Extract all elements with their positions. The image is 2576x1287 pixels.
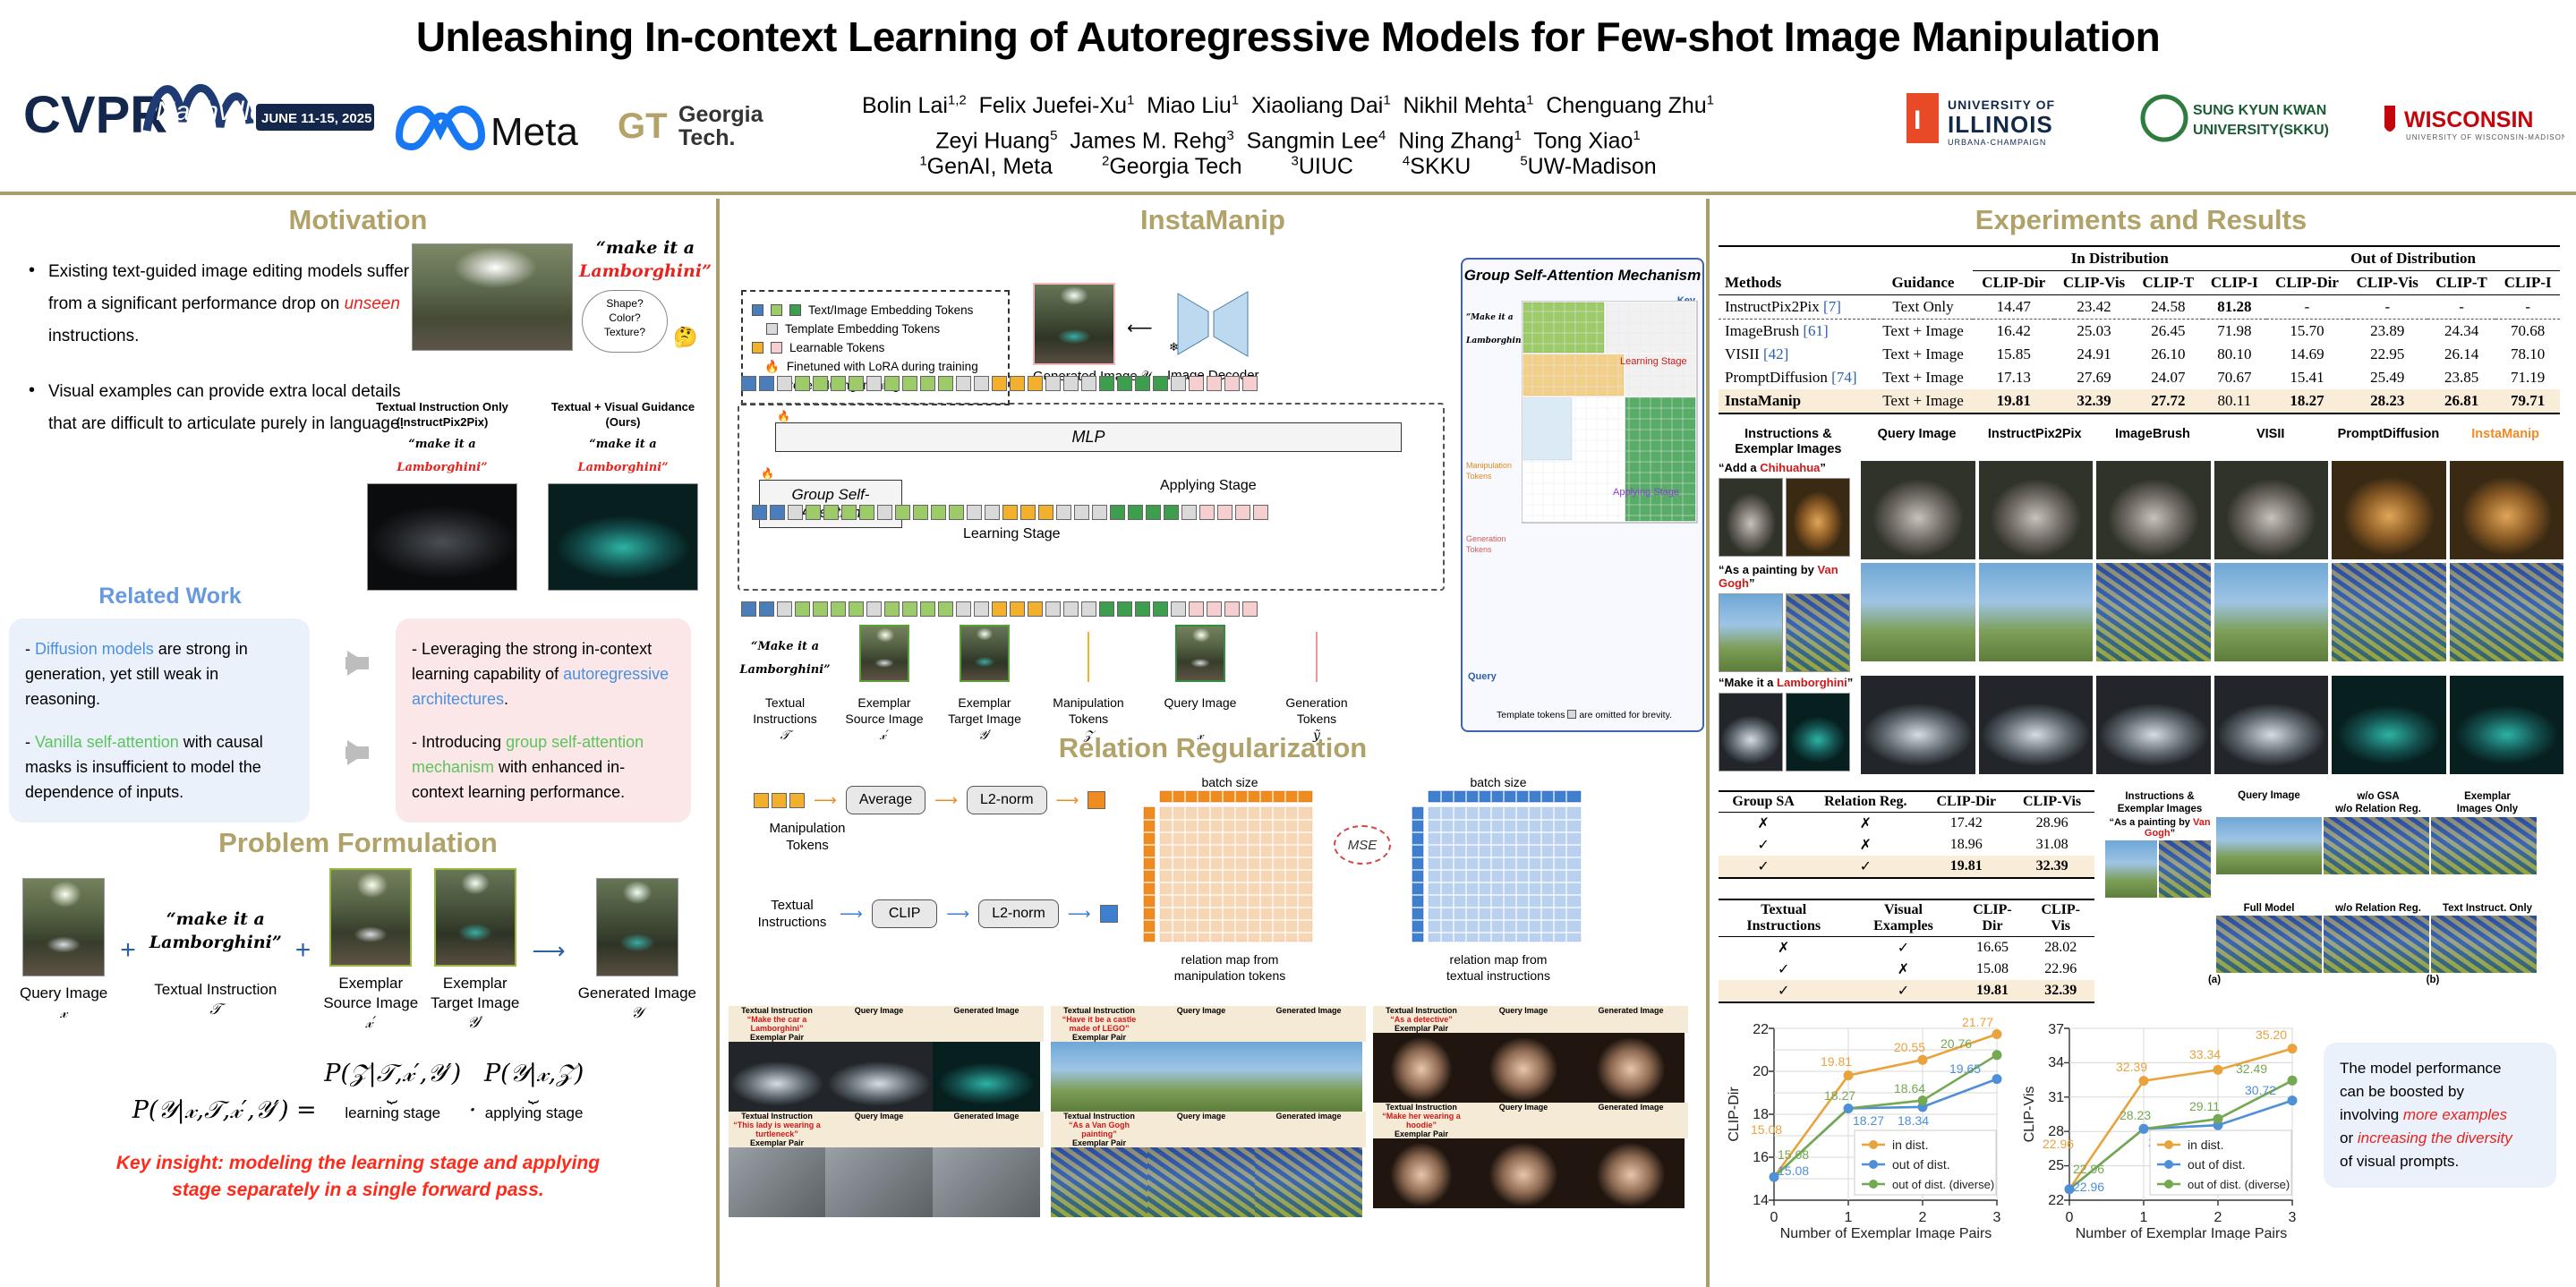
legend-row-2: Learnable Tokens	[752, 338, 999, 357]
svg-text:18.27: 18.27	[1824, 1088, 1855, 1103]
svg-text:JUNE 11-15, 2025: JUNE 11-15, 2025	[261, 111, 371, 126]
qual-row2-visii	[2214, 563, 2328, 661]
svg-text:18: 18	[1753, 1107, 1769, 1122]
legend-row-1: Template Embedding Tokens	[752, 320, 999, 338]
problem-formula: P(𝒴|𝓍,𝒯,𝓍′,𝒴′) = P(𝒵|𝒯,𝓍′,𝒴′) ⏟ learning…	[9, 1060, 707, 1125]
section-title-experiments: Experiments and Results	[1719, 204, 2563, 236]
example-strip-1: Textual Instruction “Make the car a Lamb…	[729, 1006, 1044, 1217]
token-lightgreen-icon	[771, 304, 782, 316]
abl2-col-1: Visual Examples	[1848, 899, 1958, 937]
qual2-header-1: Query Image	[2214, 790, 2324, 815]
token-blue-icon	[752, 304, 763, 316]
strip6-query-head: Query Image	[1470, 1103, 1577, 1138]
clip-block: CLIP	[872, 899, 938, 928]
strip3-gen-1	[1577, 1033, 1685, 1103]
input-exemplar-source: ExemplarSource Image 𝓍′	[834, 625, 934, 744]
col-header-ood-clipi: CLIP-I	[2495, 271, 2560, 295]
strip3-exemplar-1	[1373, 1033, 1470, 1103]
wisconsin-logo: WISCONSIN UNIVERSITY OF WISCONSIN-MADISO…	[2372, 97, 2564, 153]
svg-text:Tech.: Tech.	[678, 125, 735, 150]
strip5-exemplar-1	[1051, 1147, 1147, 1217]
strip4-query-1	[825, 1147, 933, 1217]
main-results-table: Methods Guidance In Distribution Out of …	[1719, 245, 2560, 414]
strip1-gen-1	[933, 1042, 1040, 1112]
strip3-query-head: Query Image	[1470, 1006, 1577, 1033]
qual-row-1: “Add a Chihuahua”	[1719, 461, 2563, 559]
qualitative-comparison: Instructions &Exemplar Images Query Imag…	[1719, 427, 2563, 774]
arrow-right-icon-clip: ⟶	[840, 905, 863, 924]
gsa-panel: Group Self-Attention Mechanism Key Query…	[1461, 258, 1704, 732]
georgia-tech-logo: GT Georgia Tech.	[618, 97, 828, 155]
table-row: ✗✗ 17.4228.96	[1719, 813, 2094, 835]
qual-row1-instruction: “Add a Chihuahua”	[1719, 461, 1857, 559]
strip2-instr-head: Textual Instruction “Have it be a castle…	[1051, 1006, 1147, 1042]
gsa-panel-title: Group Self-Attention Mechanism	[1463, 267, 1702, 285]
image-decoder-block: Image Decoder ❄	[1167, 281, 1259, 383]
group-self-attention-block: Group Self-Attention	[759, 480, 902, 528]
l2norm-block-2: L2-norm	[978, 899, 1059, 928]
pf-generated-image: Generated Image 𝒴	[578, 878, 696, 1023]
teaser-left-example: Textual Instruction Only (InstructPix2Pi…	[362, 399, 523, 591]
fire-icon-mlp: 🔥	[777, 410, 790, 422]
strip5-instr-head: Textual Instruction “As a Van Gogh paint…	[1051, 1112, 1147, 1147]
arrow-right-icon-l2a: ⟶	[934, 791, 958, 810]
qual-row2-exemplar-src	[1719, 593, 1783, 672]
mse-node: MSE	[1334, 825, 1391, 865]
svg-text:37: 37	[2048, 1022, 2064, 1037]
relation-map-textual: batch size	[1409, 775, 1588, 984]
arrow-right-icon-l2b: ⟶	[946, 905, 969, 924]
abl2-col-3: CLIP-Vis	[2026, 899, 2094, 937]
strip5-query-1	[1147, 1147, 1255, 1217]
abl1-col-3: CLIP-Vis	[2009, 791, 2094, 813]
relation-map-blue-icon	[1409, 789, 1588, 947]
svg-text:22.96: 22.96	[2043, 1137, 2074, 1151]
qual-row2-instamanip	[2450, 563, 2563, 661]
group-header-in-distribution: In Distribution	[1973, 246, 2266, 271]
qual2b-header-2: Text Instruct. Only	[2433, 903, 2542, 914]
svg-text:14: 14	[1753, 1193, 1769, 1208]
svg-text:UNIVERSITY(SKKU): UNIVERSITY(SKKU)	[2193, 123, 2329, 138]
strip2-exemplar-1	[1051, 1042, 1147, 1112]
conclusion-note: The model performance can be boosted by …	[2324, 1043, 2556, 1188]
arrow-left-icon-decoder: ⟵	[1127, 317, 1153, 339]
strip1-gen-head: Generated Image	[933, 1006, 1040, 1042]
relation-map-orange-icon	[1140, 789, 1319, 947]
related-work-right-box: - Leveraging the strong in-context learn…	[396, 618, 691, 822]
poster-columns: Motivation Existing text-guided image ed…	[0, 199, 2576, 1287]
qual-header-4: VISII	[2212, 427, 2330, 457]
svg-text:UNIVERSITY OF: UNIVERSITY OF	[1948, 98, 2055, 112]
strip1-instr-head: Textual Instruction “Make the car a Lamb…	[729, 1006, 825, 1042]
qual2b-header-0: Full Model	[2214, 903, 2324, 914]
svg-text:2: 2	[1919, 1210, 1927, 1225]
qual-row3-instamanip	[2450, 676, 2563, 774]
strip6-instr-head: Textual Instruction “Make her wearing a …	[1373, 1103, 1470, 1138]
strip2-gen-head: Generated Image	[1255, 1006, 1362, 1042]
section-title-related-work: Related Work	[9, 584, 331, 609]
svg-text:0: 0	[1770, 1210, 1778, 1225]
svg-text:out of dist. (diverse): out of dist. (diverse)	[1892, 1178, 1994, 1191]
subfigure-label-a: (a)	[2105, 975, 2324, 985]
col-header-id-clipvis: CLIP-Vis	[2054, 271, 2134, 295]
qual-row3-exemplar-src	[1719, 693, 1783, 771]
subfigure-label-b: (b)	[2324, 975, 2542, 985]
svg-text:35.20: 35.20	[2256, 1027, 2287, 1042]
token-pink-icon	[771, 342, 782, 354]
teaser-source-image	[412, 243, 573, 351]
strip5-gen-head: Generated image	[1255, 1112, 1362, 1147]
table-row-highlighted: InstaManip Text + Image 19.81 32.39 27.7…	[1719, 389, 2560, 413]
svg-text:ILLINOIS: ILLINOIS	[1948, 111, 2053, 138]
gsa-left-labels: “Make it aLamborghini” ManipulationToken…	[1466, 306, 1520, 555]
strip2-query-1	[1147, 1042, 1255, 1112]
strip4-gen-head: Generated Image	[933, 1112, 1040, 1147]
learning-stage-label: Learning Stage	[963, 526, 1061, 542]
qual-header-0: Instructions &Exemplar Images	[1719, 427, 1858, 457]
chart-clip-dir: 14 16 18 20 22 01 23	[1719, 1016, 2014, 1244]
problem-formulation-row: Query Image 𝓍 + “make it a Lamborghini” …	[9, 868, 707, 1033]
relation-reg-pipeline: ⟶ Average ⟶ L2-norm ⟶ ManipulationTokens	[754, 786, 1118, 931]
svg-text:Number of Exemplar Image Pairs: Number of Exemplar Image Pairs	[2076, 1226, 2288, 1240]
affiliation-list: 1GenAI, Meta 2Georgia Tech 3UIUC 4SKKU 5…	[0, 154, 2576, 180]
strip4-exemplar-1	[729, 1147, 825, 1217]
strip2-query-head: Query Image	[1147, 1006, 1255, 1042]
motivation-bullet-1: Existing text-guided image editing model…	[25, 256, 410, 353]
table-row: ✓✗ 15.0822.96	[1719, 959, 2094, 980]
table-row: VISII [42] Text + Image 15.85 24.91 26.1…	[1719, 343, 2560, 366]
svg-text:1: 1	[2140, 1210, 2148, 1225]
input-manipulation-tokens: ManipulationTokens 𝒵	[1035, 625, 1142, 744]
l2norm-block-1: L2-norm	[967, 786, 1047, 814]
unseen-emphasis: unseen	[345, 294, 400, 313]
legend-row-0: Text/Image Embedding Tokens	[752, 301, 999, 320]
abl2-col-2: CLIP-Dir	[1958, 899, 2027, 937]
strip5-gen-1	[1255, 1147, 1362, 1217]
svg-text:in dist.: in dist.	[2188, 1138, 2223, 1152]
teaser-instruction: “make it a Lamborghini”	[578, 236, 712, 283]
qualitative-example-strips: Textual Instruction “Make the car a Lamb…	[729, 1006, 1697, 1217]
abl1-col-0: Group SA	[1719, 791, 1808, 813]
section-title-motivation: Motivation	[9, 204, 707, 236]
svg-text:20.76: 20.76	[1941, 1036, 1972, 1051]
related-work-right-item-0: - Leveraging the strong in-context learn…	[412, 636, 675, 712]
applying-stage-label: Applying Stage	[1160, 478, 1257, 494]
qual2-instruction: “As a painting by Van Gogh”	[2105, 817, 2214, 898]
qual-row2-promptdiffusion	[2332, 563, 2445, 661]
qual-row1-ip2p	[1979, 461, 2093, 559]
qual-row2-exemplar-tgt	[1786, 593, 1850, 672]
example-strip-3: Textual Instruction “As a detective” Exe…	[1373, 1006, 1688, 1217]
svg-text:UNIVERSITY OF WISCONSIN-MADISO: UNIVERSITY OF WISCONSIN-MADISON	[2406, 133, 2564, 141]
svg-text:out of dist. (diverse): out of dist. (diverse)	[2188, 1178, 2290, 1191]
qual-row2-ip2p	[1979, 563, 2093, 661]
qual-row1-exemplar-tgt	[1786, 478, 1850, 557]
strip4-gen-1	[933, 1147, 1040, 1217]
qual-header-1: Query Image	[1858, 427, 1976, 457]
svg-text:0: 0	[2066, 1210, 2074, 1225]
svg-text:25: 25	[2048, 1158, 2064, 1173]
abl2-col-0: Textual Instructions	[1719, 899, 1848, 937]
svg-text:21.77: 21.77	[1962, 1016, 1993, 1029]
arrow-right-icon-out2: ⟶	[1068, 905, 1091, 924]
qual-header-6: InstaManip	[2447, 427, 2563, 457]
gsa-query-label: Query	[1468, 671, 1497, 682]
gsa-applying-stage-label: Applying Stage	[1613, 487, 1679, 498]
qual2-exemplar-only	[2431, 817, 2537, 874]
qual2-text-only	[2431, 916, 2537, 973]
qualitative-headers: Instructions &Exemplar Images Query Imag…	[1719, 427, 2563, 457]
svg-text:CVPR: CVPR	[23, 86, 167, 144]
affiliation-4: 4SKKU	[1403, 154, 1471, 179]
related-work-left-item-0: - Diffusion models are strong in generat…	[25, 636, 294, 712]
textual-instructions-label: TextualInstructions	[754, 897, 831, 931]
svg-text:15.08: 15.08	[1778, 1163, 1809, 1178]
generated-image-thumb	[1033, 283, 1115, 365]
batch-size-label-1: batch size	[1140, 775, 1319, 789]
legend-row-3: 🔥 Finetuned with LoRA during training	[752, 357, 999, 376]
svg-text:SUNG KYUN KWAN: SUNG KYUN KWAN	[2193, 103, 2326, 118]
poster-root: Unleashing In-context Learning of Autore…	[0, 0, 2576, 1287]
manipulation-tokens-label: ManipulationTokens	[754, 820, 861, 854]
poster-header: Unleashing In-context Learning of Autore…	[0, 0, 2576, 195]
pf-exemplar-target: Exemplar Target Image 𝒴′	[431, 868, 519, 1033]
relation-map-caption-left: relation map frommanipulation tokens	[1140, 951, 1319, 984]
strip6-exemplar-1	[1373, 1138, 1470, 1208]
batch-size-label-2: batch size	[1409, 775, 1588, 789]
svg-text:15.08: 15.08	[1778, 1147, 1809, 1162]
table-row-highlighted: ✓ ✓ 19.8132.39	[1719, 980, 2094, 1002]
plus-icon-2: +	[295, 935, 311, 966]
affiliation-1: 1GenAI, Meta	[919, 154, 1053, 179]
pf-textual-instruction: “make it a Lamborghini” Textual Instruct…	[149, 882, 283, 1019]
table-row: PromptDiffusion [74] Text + Image 17.13 …	[1719, 366, 2560, 389]
svg-text:1: 1	[1845, 1210, 1853, 1225]
average-block: Average	[846, 786, 925, 814]
svg-text:29.11: 29.11	[2189, 1099, 2220, 1113]
col-header-ood-clipvis: CLIP-Vis	[2348, 271, 2427, 295]
related-work-left-box: - Diffusion models are strong in generat…	[9, 618, 310, 822]
col-header-id-clipt: CLIP-T	[2134, 271, 2203, 295]
pf-query-image: Query Image 𝓍	[20, 878, 107, 1023]
qual2-full-model	[2216, 916, 2322, 973]
strip1-query-head: Query Image	[825, 1006, 933, 1042]
pf-exemplar-source: Exemplar Source Image 𝓍′	[323, 868, 418, 1033]
template-token-icon	[1567, 710, 1576, 719]
qual-row-3: “Make it a Lamborghini”	[1719, 676, 2563, 774]
qual-row3-visii	[2214, 676, 2328, 774]
table-row: InstructPix2Pix [7] Text Only 14.47 23.4…	[1719, 295, 2560, 320]
meta-logo: Meta	[394, 98, 600, 158]
qual-header-5: PromptDiffusion	[2330, 427, 2448, 457]
svg-text:32.39: 32.39	[2116, 1060, 2147, 1074]
affiliation-3: 3UIUC	[1292, 154, 1353, 179]
qual2-query	[2216, 817, 2322, 874]
qual2-header-2: w/o GSAw/o Relation Reg.	[2324, 790, 2433, 815]
teaser-right-result	[548, 483, 698, 591]
group-header-out-distribution: Out of Distribution	[2266, 246, 2560, 271]
strip3-instr-head: Textual Instruction “As a detective” Exe…	[1373, 1006, 1470, 1033]
svg-text:3: 3	[1993, 1210, 2001, 1225]
svg-text:Nashville: Nashville	[156, 97, 265, 126]
column-left: Motivation Existing text-guided image ed…	[0, 199, 716, 1287]
qual-header-2: InstructPix2Pix	[1975, 427, 2094, 457]
thinking-face-icon: 🤔	[673, 326, 697, 349]
strip1-query-1	[825, 1042, 933, 1112]
affiliation-2: 2Georgia Tech	[1102, 154, 1242, 179]
arrow-right-icon-3: ⟶	[532, 937, 565, 965]
qual-row1-instamanip	[2450, 461, 2563, 559]
svg-text:18.27: 18.27	[1853, 1113, 1884, 1128]
relation-map-manipulation: batch size	[1140, 775, 1319, 984]
textual-embedding-token	[1100, 905, 1118, 923]
illinois-logo: I UNIVERSITY OF ILLINOIS URBANA-CHAMPAIG…	[1906, 89, 2112, 153]
related-work-right-item-1: - Introducing group self-attention mecha…	[412, 729, 675, 805]
strip2-gen-1	[1255, 1042, 1362, 1112]
svg-text:20: 20	[1753, 1064, 1769, 1079]
strip6-query-1	[1470, 1138, 1577, 1208]
svg-text:19.65: 19.65	[1949, 1061, 1981, 1076]
fire-icon: 🔥	[764, 357, 780, 376]
relation-map-caption-right: relation map fromtextual instructions	[1409, 951, 1588, 984]
qual-row1-exemplar-src	[1719, 478, 1783, 557]
gsa-learning-stage-label: Learning Stage	[1620, 356, 1687, 367]
col-header-id-clipi: CLIP-I	[2203, 271, 2267, 295]
charts-row: 14 16 18 20 22 01 23	[1719, 1016, 2563, 1244]
qual-row1-imagebrush	[2096, 461, 2210, 559]
arrow-right-icon-out1: ⟶	[1056, 791, 1079, 810]
svg-text:18.64: 18.64	[1894, 1081, 1925, 1095]
input-token-row	[741, 601, 1258, 617]
related-work-left-item-1: - Vanilla self-attention with causal mas…	[25, 729, 294, 805]
svg-text:33.34: 33.34	[2189, 1047, 2221, 1061]
qual-header-3: ImageBrush	[2094, 427, 2212, 457]
qual-row-2: “As a painting by Van Gogh”	[1719, 563, 2563, 672]
qual-row3-query	[1861, 676, 1975, 774]
qualitative-ablation: Instructions &Exemplar Images Query Imag…	[2105, 790, 2553, 1003]
image-decoder-icon	[1173, 281, 1253, 363]
fire-icon-gsa: 🔥	[761, 467, 774, 480]
svg-text:3: 3	[2289, 1210, 2297, 1225]
strip1-exemplar-1	[729, 1042, 825, 1112]
col-header-methods: Methods	[1719, 246, 1873, 295]
svg-text:Georgia: Georgia	[678, 102, 764, 127]
transformer-block-panel: ×N MLP 🔥 Group Self-Attention 🔥 Applying…	[738, 403, 1445, 591]
qual-row3-exemplar-tgt	[1786, 693, 1850, 771]
token-gray-icon	[766, 323, 778, 335]
svg-text:I: I	[1914, 106, 1921, 135]
cvpr-logo: CVPR Nashville JUNE 11-15, 2025	[21, 68, 380, 147]
svg-text:34: 34	[2048, 1055, 2064, 1070]
svg-text:GT: GT	[618, 107, 668, 146]
qual-row1-visii	[2214, 461, 2328, 559]
strip4-instr-head: Textual Instruction “This lady is wearin…	[729, 1112, 825, 1147]
svg-text:Number of Exemplar Image Pairs: Number of Exemplar Image Pairs	[1780, 1226, 1992, 1240]
qual-row3-instruction: “Make it a Lamborghini”	[1719, 676, 1857, 774]
manipulation-token-group	[754, 793, 805, 808]
svg-text:CLIP-Vis: CLIP-Vis	[2022, 1087, 2037, 1143]
plus-icon-1: +	[120, 935, 136, 966]
affiliation-5: 5UW-Madison	[1520, 154, 1656, 179]
svg-text:out of dist.: out of dist.	[1892, 1157, 1950, 1172]
svg-text:18.34: 18.34	[1898, 1113, 1929, 1128]
key-insight-text: Key insight: modeling the learning stage…	[9, 1150, 707, 1204]
chart-clip-vis: 22 25 28 31 34 37 01	[2014, 1016, 2309, 1244]
svg-text:Meta: Meta	[490, 110, 578, 154]
strip4-query-head: Query Image	[825, 1112, 933, 1147]
token-darkgreen-icon	[789, 304, 801, 316]
svg-text:28.23: 28.23	[2120, 1108, 2151, 1122]
svg-text:22.96: 22.96	[2073, 1180, 2104, 1194]
qual2-header-3: ExemplarImages Only	[2433, 790, 2542, 815]
section-title-instamanip: InstaManip	[729, 204, 1697, 236]
strip6-gen-1	[1577, 1138, 1685, 1208]
teaser-right-example: Textual + Visual Guidance (Ours) “make i…	[542, 399, 704, 591]
input-exemplar-target: ExemplarTarget Image 𝒴′	[934, 625, 1035, 744]
table-row-highlighted: ✓ ✓ 19.8132.39	[1719, 856, 2094, 878]
qual-row1-query	[1861, 461, 1975, 559]
strip3-query-1	[1470, 1033, 1577, 1103]
ablation-table-1: Group SA Relation Reg. CLIP-Dir CLIP-Vis…	[1719, 790, 2094, 879]
mlp-block: MLP	[775, 422, 1402, 452]
qual-row3-promptdiffusion	[2332, 676, 2445, 774]
ablation-table-2: Textual Instructions Visual Examples CLI…	[1719, 899, 2094, 1003]
svg-text:15.08: 15.08	[1751, 1122, 1782, 1137]
header-divider	[0, 192, 2576, 195]
qual2-header-0: Instructions &Exemplar Images	[2105, 790, 2214, 815]
qual-row2-instruction: “As a painting by Van Gogh”	[1719, 563, 1857, 672]
svg-text:URBANA-CHAMPAIGN: URBANA-CHAMPAIGN	[1948, 138, 2046, 147]
qual-row2-query	[1861, 563, 1975, 661]
svg-text:CLIP-Dir: CLIP-Dir	[1727, 1087, 1742, 1142]
input-query-image: Query Image 𝓍	[1142, 625, 1258, 744]
col-header-ood-clipdir: CLIP-Dir	[2266, 271, 2348, 295]
qual2-wo-gsa	[2324, 817, 2429, 874]
svg-text:20.55: 20.55	[1894, 1040, 1925, 1054]
column-right: Experiments and Results Methods Guidance…	[1710, 199, 2572, 1287]
svg-text:22: 22	[2048, 1193, 2064, 1208]
arrow-right-icon-2	[347, 740, 367, 765]
section-title-problem-formulation: Problem Formulation	[9, 827, 707, 859]
qual-row1-promptdiffusion	[2332, 461, 2445, 559]
abl1-col-2: CLIP-Dir	[1923, 791, 2009, 813]
gsa-footnote: Template tokens are omitted for brevity.	[1471, 709, 1697, 721]
svg-text:19.81: 19.81	[1821, 1054, 1852, 1069]
input-generation-tokens: GenerationTokens ỹ	[1258, 625, 1375, 744]
table-row: ✓✗ 18.9631.08	[1719, 834, 2094, 856]
qual-row3-ip2p	[1979, 676, 2093, 774]
output-token-row	[741, 376, 1258, 391]
page-title: Unleashing In-context Learning of Autore…	[0, 13, 2576, 61]
svg-text:WISCONSIN: WISCONSIN	[2404, 107, 2533, 132]
qual-row3-imagebrush	[2096, 676, 2210, 774]
qual2-wo-relation	[2324, 916, 2429, 973]
svg-text:out of dist.: out of dist.	[2188, 1157, 2246, 1172]
manipulation-embedding-token	[1088, 791, 1105, 809]
example-strip-2: Textual Instruction “Have it be a castle…	[1051, 1006, 1366, 1217]
table-row: ImageBrush [61] Text + Image 16.42 25.03…	[1719, 320, 2560, 344]
strip3-gen-head: Generated Image	[1577, 1006, 1685, 1033]
snowflake-icon-decoder: ❄	[1169, 340, 1179, 354]
related-work-arrows	[319, 618, 396, 797]
svg-text:in dist.: in dist.	[1892, 1138, 1928, 1152]
col-header-guidance: Guidance	[1873, 246, 1974, 295]
svg-text:2: 2	[2214, 1210, 2222, 1225]
arrow-right-icon-avg: ⟶	[814, 791, 837, 810]
svg-text:30.72: 30.72	[2245, 1083, 2276, 1097]
qual2b-header-1: w/o Relation Reg.	[2324, 903, 2433, 914]
svg-text:16: 16	[1753, 1150, 1769, 1165]
